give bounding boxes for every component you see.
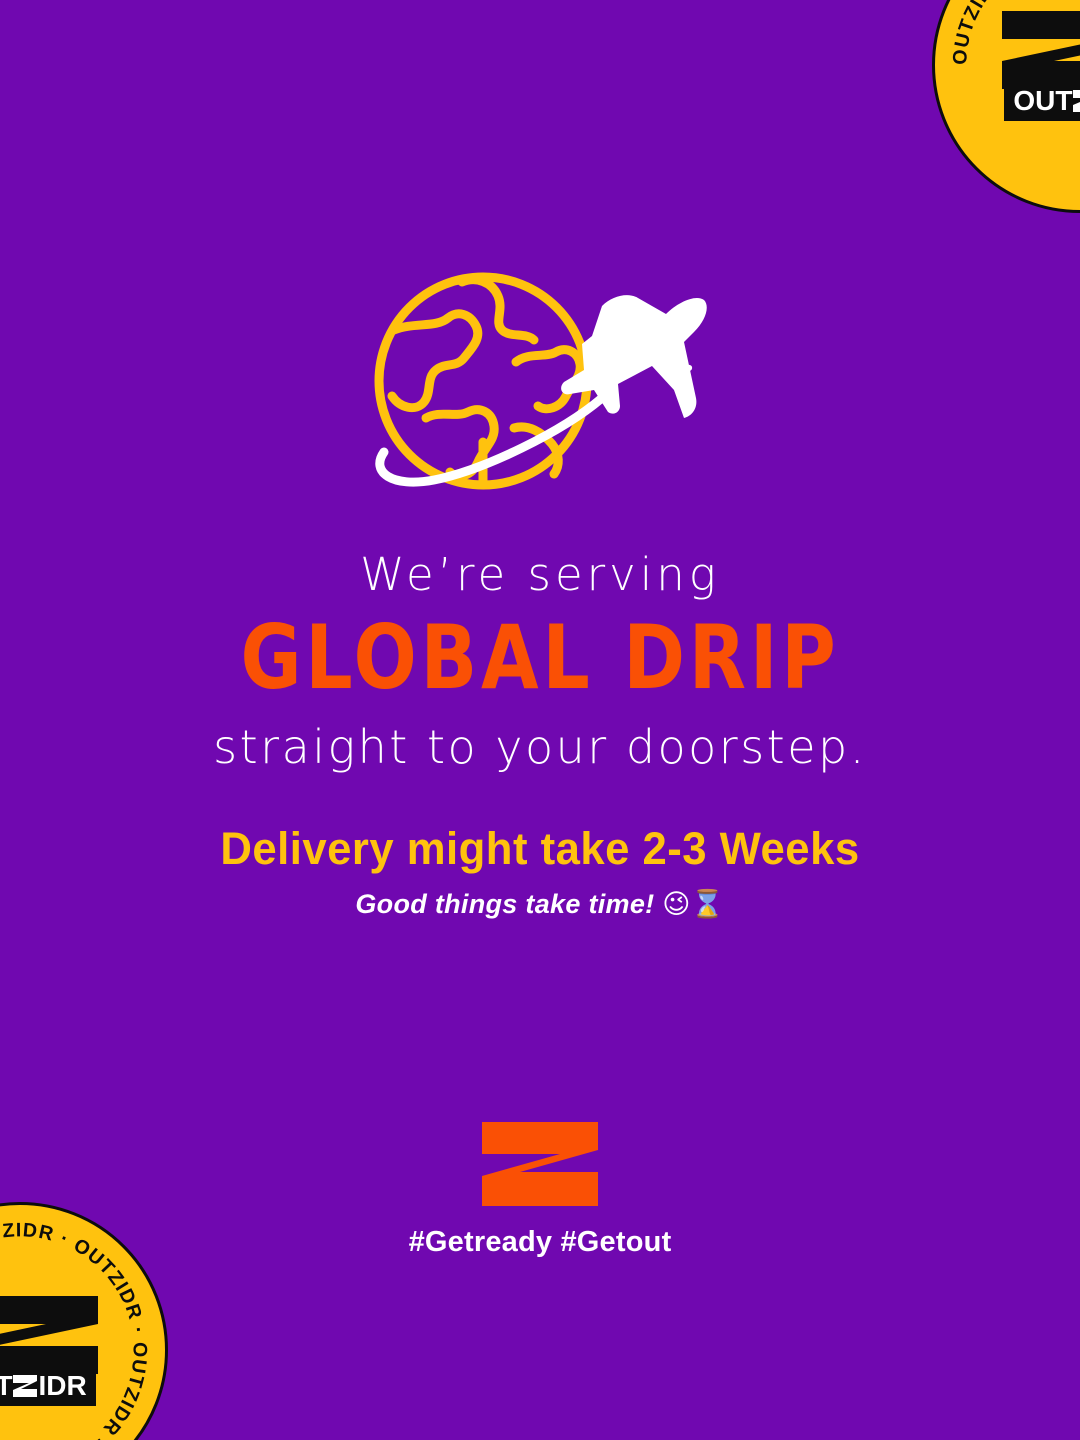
badge-core-top-right: OUT IDR: [991, 9, 1080, 121]
z-logo-icon-wordmark-tr: [1072, 89, 1080, 113]
delivery-note-block: Delivery might take 2-3 Weeks Good thing…: [0, 824, 1080, 921]
hero-line-serving: We’re serving: [40, 548, 1040, 601]
wordmark-suffix-bl: IDR: [38, 1372, 86, 1400]
hero-headline: GLOBAL DRIP: [70, 609, 1010, 708]
brand-badge-top-right: OUTZIDR · OUTZIDR · OUTZIDR · OUTZIDR · …: [932, 0, 1080, 213]
z-logo-icon-badge-bl: [0, 1294, 104, 1376]
delivery-emoji: 😉⌛: [662, 889, 724, 920]
badge-wordmark-tr: OUT IDR: [1004, 82, 1080, 121]
globe-with-airplane-icon: [366, 266, 714, 512]
wordmark-prefix-bl: OUT: [0, 1372, 12, 1400]
hero-illustration: [0, 266, 1080, 512]
z-logo-icon-wordmark-bl: [12, 1374, 38, 1398]
badge-wordmark-bl: OUT IDR: [0, 1367, 96, 1406]
brand-badge-bottom-left: OUTZIDR · OUTZIDR · OUTZIDR · OUTZIDR · …: [0, 1202, 168, 1440]
hero-copy-block: We’re serving GLOBAL DRIP straight to yo…: [0, 548, 1080, 774]
delivery-subtext: Good things take time!: [355, 889, 654, 919]
badge-core-bottom-left: OUT IDR: [0, 1294, 109, 1406]
z-logo-icon-badge-tr: [996, 9, 1080, 91]
hero-line-doorstep: straight to your doorstep.: [40, 720, 1040, 774]
delivery-headline: Delivery might take 2-3 Weeks: [45, 824, 1034, 874]
footer-hashtags: #Getready #Getout: [409, 1226, 672, 1259]
poster-canvas: OUTZIDR · OUTZIDR · OUTZIDR · OUTZIDR · …: [0, 0, 1080, 1440]
z-logo-icon-footer: [478, 1120, 602, 1208]
delivery-subtext-row: Good things take time! 😉⌛: [30, 888, 1050, 921]
wordmark-prefix-tr: OUT: [1013, 87, 1072, 115]
